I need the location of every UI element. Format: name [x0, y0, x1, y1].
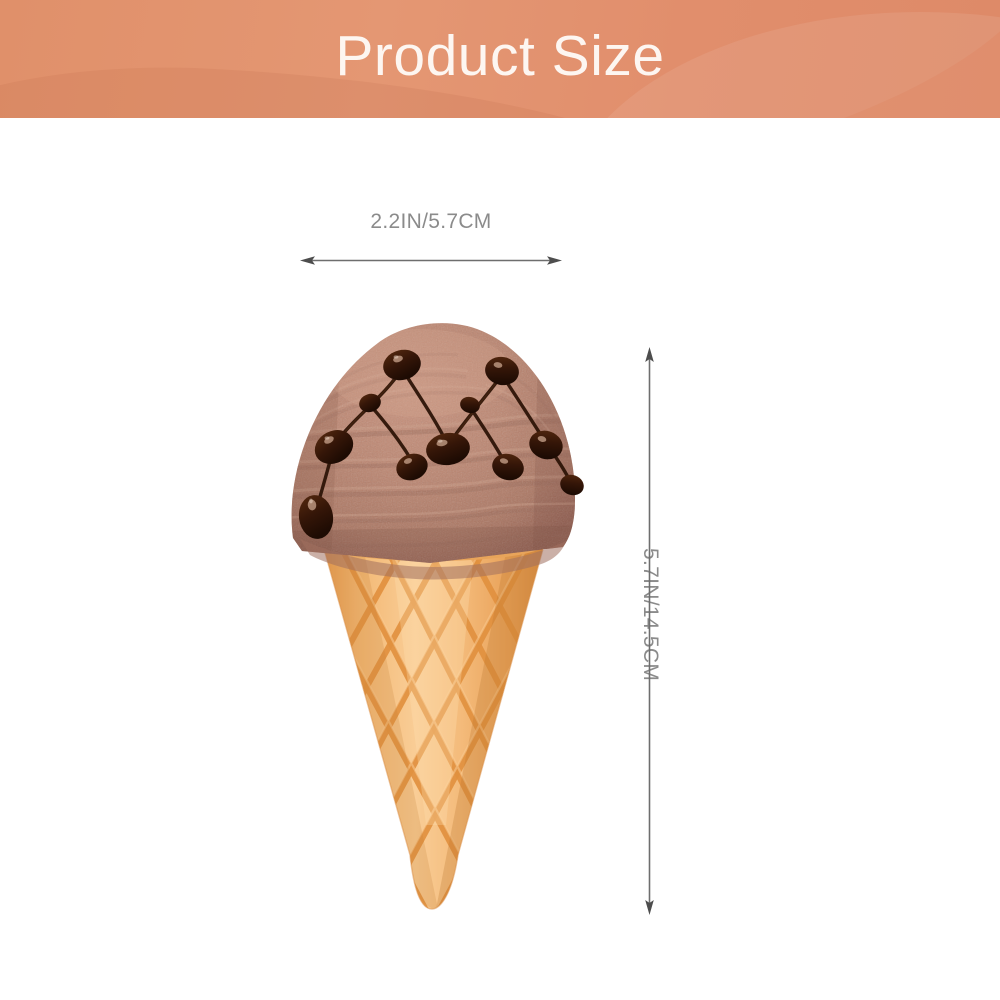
page-title: Product Size [0, 0, 1000, 118]
product-image-ice-cream-cone [270, 295, 600, 920]
width-dimension-label: 2.2IN/5.7CM [300, 210, 562, 234]
product-size-infographic: Product Size 2.2IN/5.7CM 5.7IN/14.5CM [0, 0, 1000, 1000]
header-banner: Product Size [0, 0, 1000, 118]
chocolate-ice-cream-scoop [270, 295, 600, 587]
waffle-cone [270, 526, 600, 920]
width-dimension-arrow-icon [300, 255, 562, 266]
height-dimension-arrow-icon [644, 347, 655, 915]
